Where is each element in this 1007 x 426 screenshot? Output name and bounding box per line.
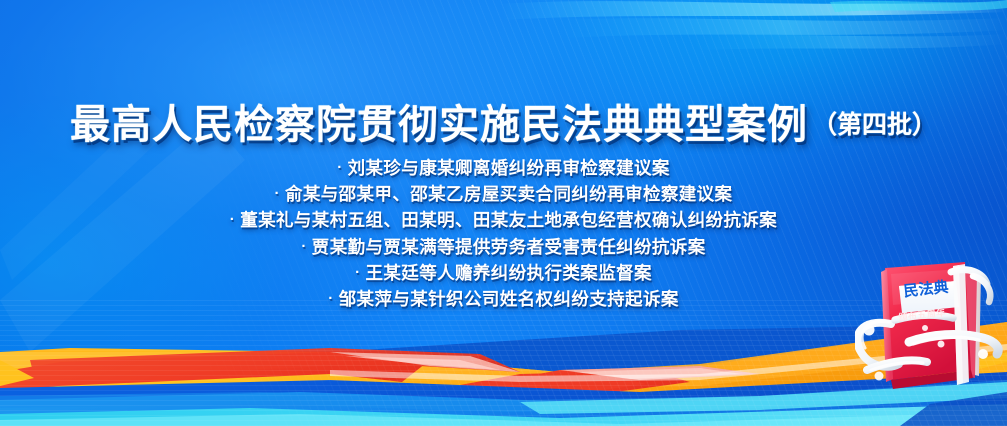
bullet-icon: ·: [355, 260, 360, 285]
bullet-icon: ·: [337, 155, 342, 180]
case-title: 刘某珍与康某卿离婚纠纷再审检察建议案: [348, 158, 670, 178]
case-title: 董某礼与某村五组、田某明、田某友土地承包经营权确认纠纷抗诉案: [240, 210, 777, 230]
bullet-icon: ·: [230, 207, 235, 232]
list-item[interactable]: ·刘某珍与康某卿离婚纠纷再审检察建议案: [0, 156, 1007, 182]
bullet-icon: ·: [275, 181, 280, 206]
case-title: 贾某勤与贾某满等提供劳务者受害责任纠纷抗诉案: [312, 237, 706, 257]
book-icon: [855, 258, 1007, 426]
case-title: 邹某萍与某针织公司姓名权纠纷支持起诉案: [339, 289, 679, 309]
bullet-icon: ·: [301, 234, 306, 259]
bullet-icon: ·: [328, 286, 333, 311]
case-title: 俞某与邵某甲、邵某乙房屋买卖合同纠纷再审检察建议案: [285, 184, 733, 204]
page-title-batch: （第四批）: [812, 105, 937, 141]
list-item[interactable]: ·俞某与邵某甲、邵某乙房屋买卖合同纠纷再审检察建议案: [0, 182, 1007, 208]
list-item[interactable]: ·贾某勤与贾某满等提供劳务者受害责任纠纷抗诉案: [0, 235, 1007, 261]
list-item[interactable]: ·董某礼与某村五组、田某明、田某友土地承包经营权确认纠纷抗诉案: [0, 208, 1007, 234]
case-title: 王某廷等人赡养纠纷执行类案监督案: [366, 263, 652, 283]
banner-root: 最高人民检察院贯彻实施民法典典型案例（第四批） ·刘某珍与康某卿离婚纠纷再审检察…: [0, 0, 1007, 426]
page-title: 最高人民检察院贯彻实施民法典典型案例: [70, 92, 808, 150]
civil-code-book-emblem: 民法典 颁布五周年: [855, 258, 1007, 426]
banner-title: 最高人民检察院贯彻实施民法典典型案例（第四批）: [0, 92, 1007, 150]
